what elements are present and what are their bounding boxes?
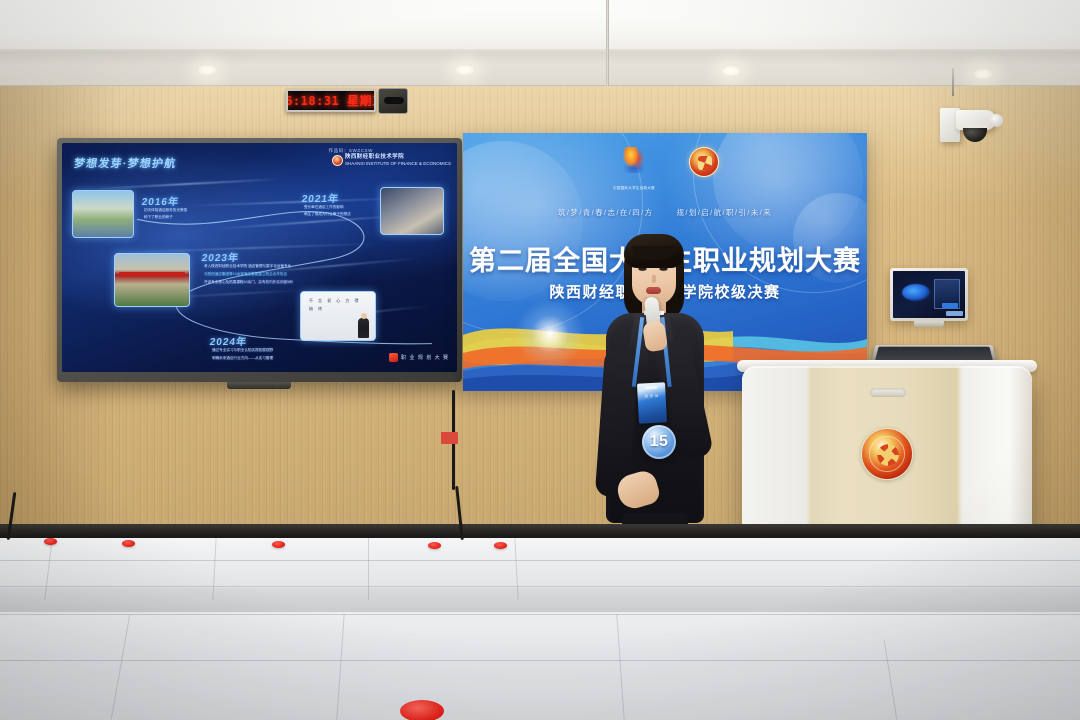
downlight-4 [972, 68, 994, 80]
tagline-left: 筑/梦/青/春/志/在/四/方 [558, 208, 654, 217]
timeline-text-2016-line1: 初次体验酒店服务的光荣感 [144, 207, 187, 213]
timeline-text-2023-line3: 开设专业核心及拓展课程10余门，实有校内外实训室5间 [204, 279, 293, 285]
backdrop-tagline: 筑/梦/青/春/志/在/四/方 规/划/启/航/职/引/未/来 [463, 207, 867, 218]
monitor-bracket [914, 321, 944, 327]
watermark-icon [389, 353, 398, 362]
innovation-flame-logo: 中国国际大学生创新大赛 [611, 147, 657, 194]
presenter-id-badge: 选 手 证 [637, 382, 667, 423]
downlight-2 [454, 64, 476, 76]
slide-watermark: 职 业 规 划 大 赛 [389, 353, 449, 362]
slide-photo-campus-2 [114, 253, 190, 307]
floor-grout-line-1 [0, 560, 1080, 561]
wall-monitor-screen [893, 271, 965, 318]
ptz-dome-camera [936, 92, 1008, 158]
slide-school-logo-text: 陕西财经职业技术学院 SHAANXI INSTITUTE OF FINANCE … [345, 154, 451, 167]
stage-scene: 16:18:31 星期三 梦想发芽·梦想护航 作品码：SWZCSW [0, 0, 1080, 720]
floor-tiles [0, 612, 1080, 720]
floor-marker-4 [428, 542, 441, 549]
camera-dome-icon [963, 125, 987, 142]
contestant-number: 15 [650, 433, 669, 451]
slide-title: 梦想发芽·梦想护航 [73, 155, 178, 171]
slide-school-logo: 陕西财经职业技术学院 SHAANXI INSTITUTE OF FINANCE … [332, 154, 451, 167]
stage-platform-face [0, 588, 1080, 614]
podium-handle [870, 388, 906, 397]
monitor-button-icon[interactable] [942, 303, 958, 308]
floor-marker-3 [272, 541, 285, 548]
downlight-3 [720, 65, 742, 77]
presentation-tv-display[interactable]: 梦想发芽·梦想护航 作品码：SWZCSW 陕西财经职业技术学院 SHAANXI … [57, 138, 462, 382]
timeline-text-2021-line2: 萌生了想成为行业骨干的想法 [304, 211, 351, 217]
school-seal-logo-icon [689, 147, 719, 177]
slide-photo-campus-1 [72, 190, 134, 238]
monitor-graphic-blob [902, 284, 930, 301]
flame-icon [621, 147, 647, 173]
floor-grout-line-2 [0, 586, 1080, 587]
timeline-text-2021-line1: 受长辈在酒店工作的影响 [304, 204, 344, 210]
timeline-year-2021: 2021年 [301, 190, 340, 205]
wall-sensor-module [378, 88, 408, 114]
floor-grout-line-3 [0, 614, 1080, 615]
slide-school-name-en: SHAANXI INSTITUTE OF FINANCE & ECONOMICS [345, 161, 451, 166]
timeline-year-2023: 2023年 [201, 249, 240, 264]
tagline-right: 规/划/启/航/职/引/未/来 [676, 208, 772, 217]
led-clock-text: 16:18:31 星期三 [286, 92, 376, 109]
presenter-hair-front [624, 234, 684, 268]
wall-outlet-plate [441, 432, 458, 444]
backdrop-logo-row: 中国国际大学生创新大赛 [463, 147, 867, 194]
slide-canvas: 梦想发芽·梦想护航 作品码：SWZCSW 陕西财经职业技术学院 SHAANXI … [62, 143, 457, 372]
timeline-year-2024: 2024年 [209, 333, 248, 348]
watermark-text: 职 业 规 划 大 赛 [401, 354, 449, 361]
podium-school-emblem-icon [861, 428, 913, 480]
timeline-text-2024-line1: 通过专业实习与职业认知实践拓展视野 [212, 347, 273, 353]
wall-control-monitor[interactable] [890, 268, 968, 321]
presenter-mouth [646, 287, 661, 294]
slide-school-name: 陕西财经职业技术学院 [345, 154, 451, 161]
ceiling-band [0, 52, 1080, 90]
timeline-text-2023-line1: 考入陕西财经职业技术学院 酒店管理与数字化运营专业 [204, 263, 291, 269]
floor-marker-1 [44, 538, 57, 545]
timeline-text-2016-line2: 种下了职业的种子 [144, 214, 173, 220]
ceiling-soffit [0, 0, 1080, 56]
downlight-1 [196, 64, 218, 76]
presenter-nose [652, 275, 656, 283]
floor-marker-5 [494, 542, 507, 549]
camera-antenna [952, 68, 954, 96]
tv-stand [227, 382, 291, 389]
slide-quote-text: 不 忘 初 心 方 得 始 终 [309, 297, 369, 312]
camera-knob [990, 114, 1003, 127]
slide-photo-quote-card: 不 忘 初 心 方 得 始 终 [300, 291, 376, 341]
led-clock-display: 16:18:31 星期三 [286, 89, 376, 112]
floor-marker-large [400, 700, 444, 720]
floor-marker-2 [122, 540, 135, 547]
timeline-text-2023-line2: 与陕西酒店集团等10余家酒店集团建立校企合作协议 [204, 271, 287, 277]
floor-grout-line-4 [0, 660, 1080, 661]
floor-grout-v-3 [368, 538, 369, 600]
slide-photo-hotel-front-desk [380, 187, 444, 235]
monitor-status-tag [946, 311, 963, 316]
slide-quote-person-figure [358, 318, 369, 338]
id-badge-text: 选 手 证 [641, 392, 661, 399]
flame-logo-caption: 中国国际大学生创新大赛 [613, 186, 655, 190]
school-seal-icon [332, 155, 343, 166]
timeline-year-2016: 2016年 [141, 193, 180, 208]
timeline-text-2024-line2: 明确未来酒店行业方向——从实习管理 [212, 355, 273, 361]
contestant-number-badge: 15 [642, 425, 676, 459]
